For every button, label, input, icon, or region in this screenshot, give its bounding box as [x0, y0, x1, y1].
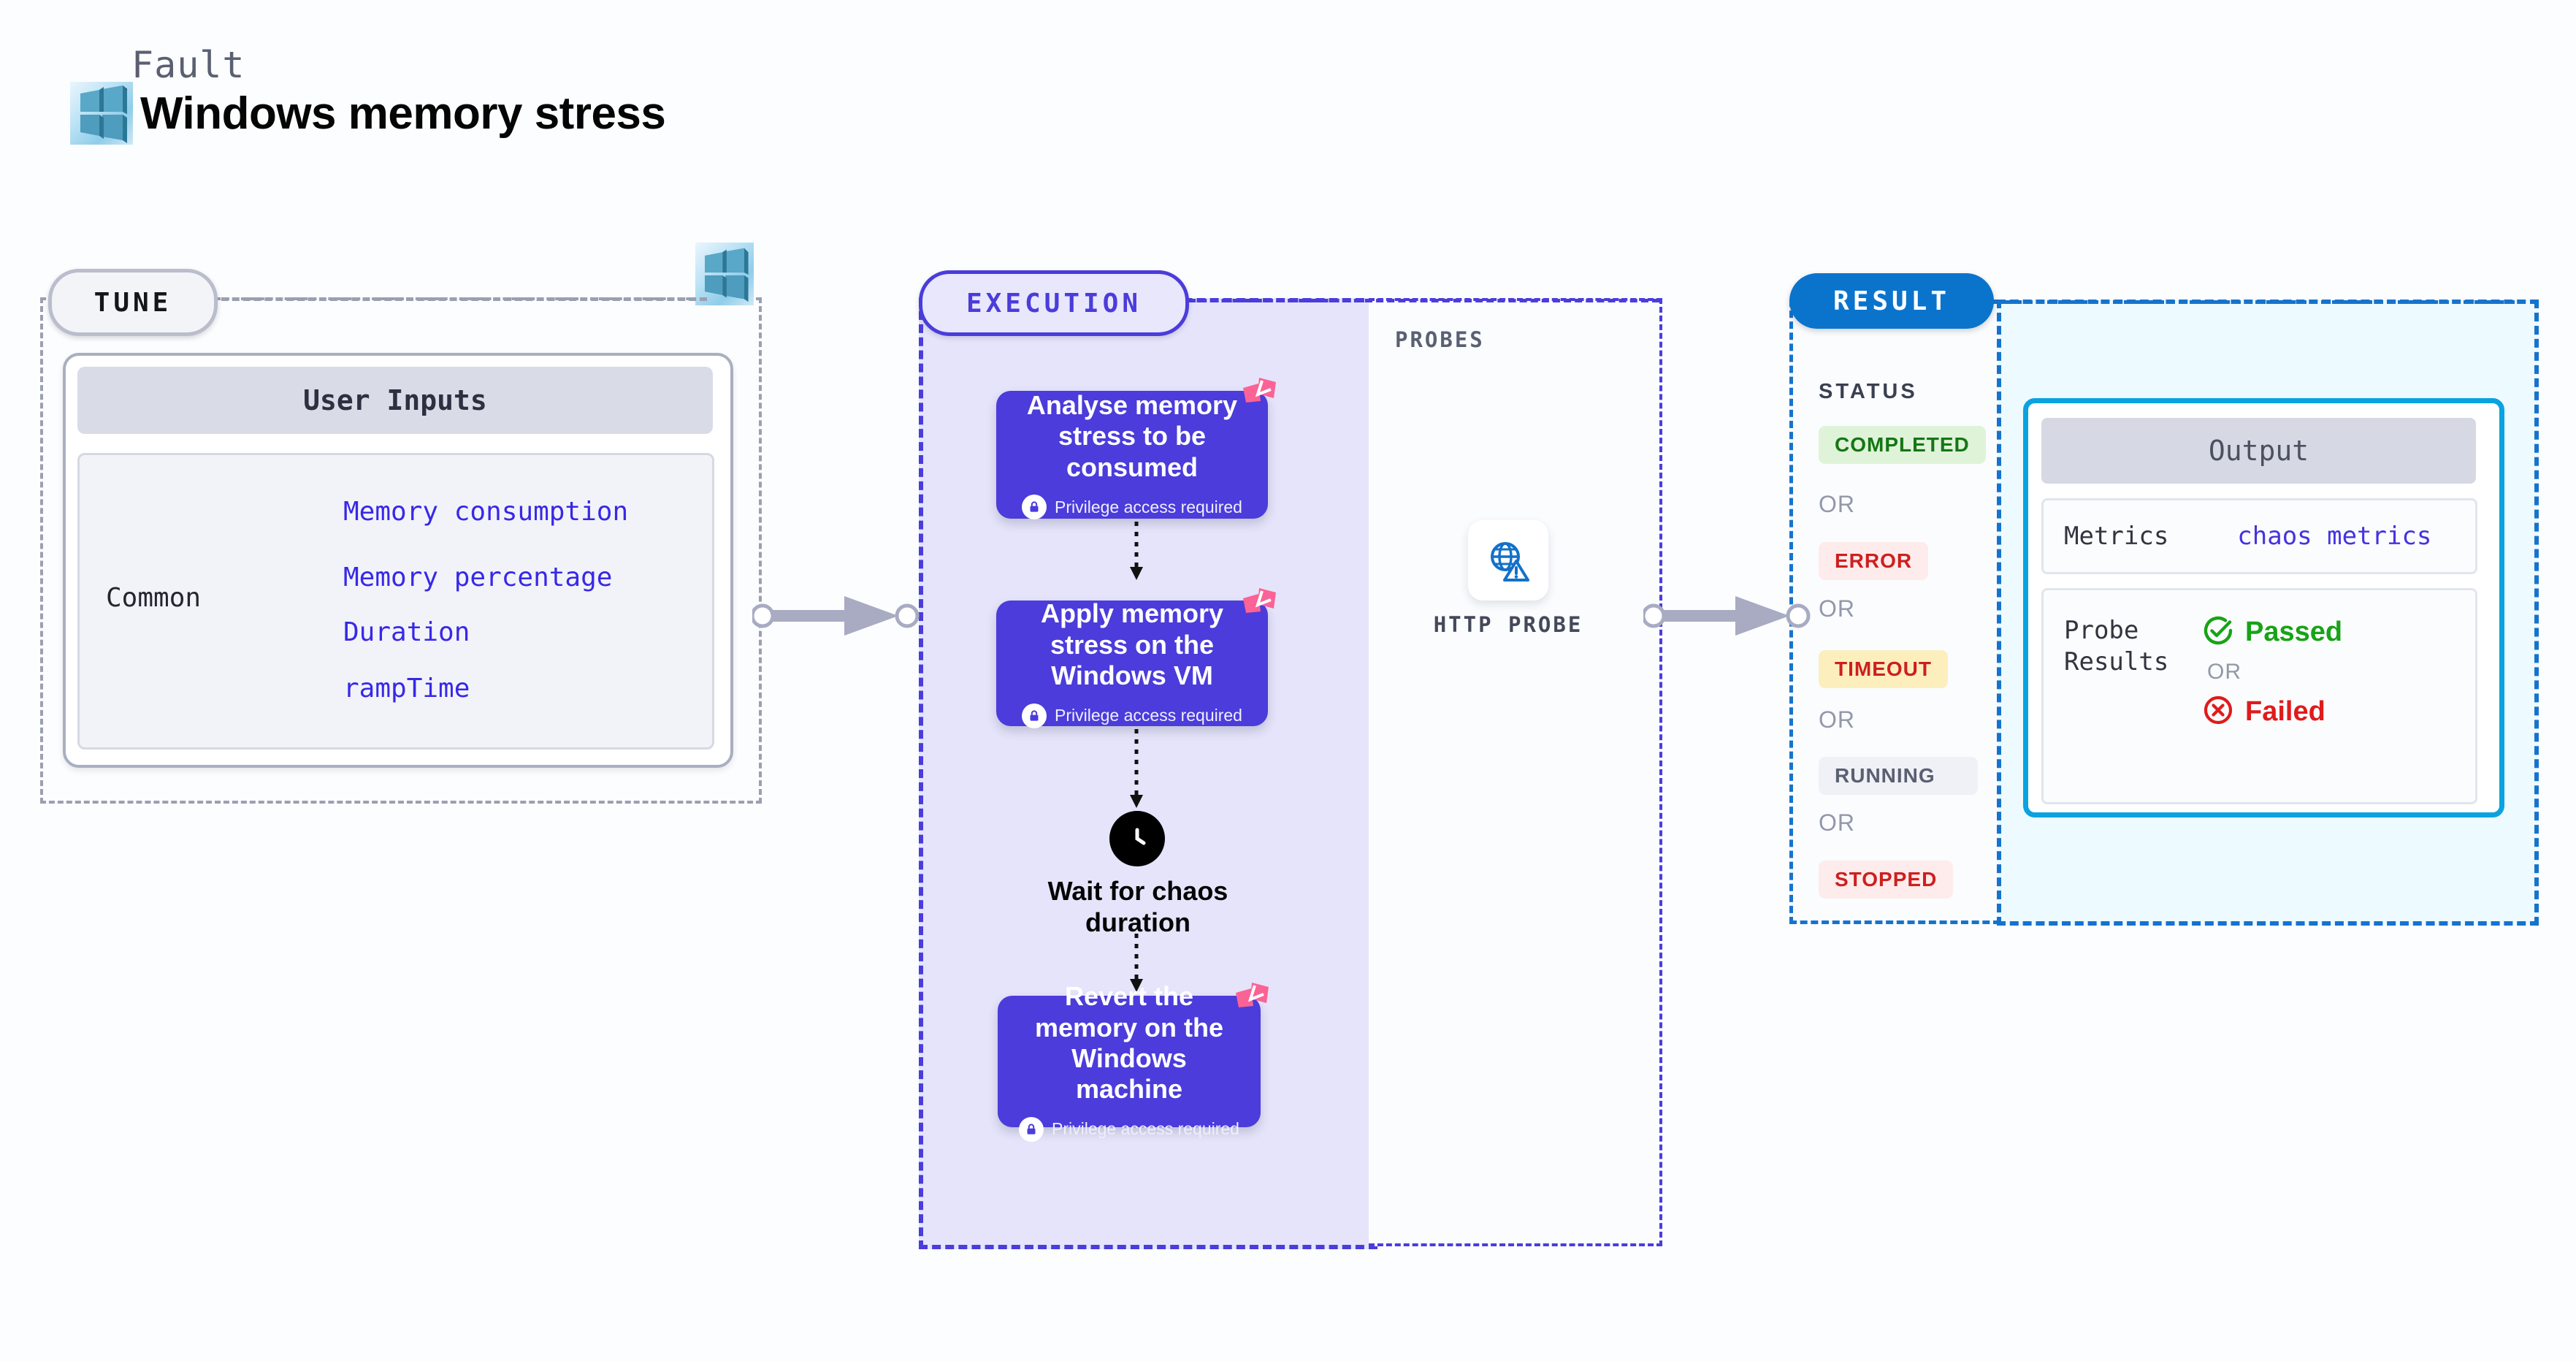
execution-step-3-title: Revert the memory on the Windows machine	[998, 981, 1261, 1105]
execution-to-result-connector	[1643, 592, 1811, 640]
clock-icon	[1109, 811, 1165, 866]
execution-step-1-title: Analyse memory stress to be consumed	[996, 390, 1268, 483]
probes-panel	[1369, 298, 1662, 1246]
fault-kicker: Fault	[131, 44, 665, 86]
x-circle-icon	[2203, 695, 2233, 729]
tune-badge-label: TUNE	[94, 288, 172, 318]
execution-step-2-privilege-text: Privilege access required	[1055, 706, 1242, 725]
tune-param-ramptime[interactable]: rampTime	[343, 674, 470, 704]
status-or-2: OR	[1819, 595, 1855, 622]
metrics-value[interactable]: chaos metrics	[2237, 522, 2431, 551]
status-badge-timeout: TIMEOUT	[1819, 650, 1948, 688]
execution-step-1[interactable]: Analyse memory stress to be consumed Pri…	[996, 391, 1268, 519]
execution-step-3-privilege-text: Privilege access required	[1052, 1119, 1239, 1139]
tune-param-memory-consumption[interactable]: Memory consumption	[343, 497, 628, 527]
probe-results-row: Probe Results Passed OR	[2041, 588, 2477, 804]
execution-step-1-privilege: Privilege access required	[1022, 495, 1242, 519]
execution-arrow-1	[1126, 522, 1147, 582]
result-badge-label: RESULT	[1833, 286, 1950, 316]
status-or-1: OR	[1819, 491, 1855, 518]
tune-badge-connector	[210, 297, 707, 301]
status-badge-error: ERROR	[1819, 542, 1928, 580]
status-or-3: OR	[1819, 706, 1855, 733]
lock-icon	[1019, 1117, 1044, 1142]
probe-caption: HTTP PROBE	[1410, 612, 1607, 637]
execution-step-2[interactable]: Apply memory stress on the Windows VM Pr…	[996, 601, 1268, 726]
output-header: Output	[2041, 418, 2476, 484]
execution-step-2-privilege: Privilege access required	[1022, 704, 1242, 728]
execution-badge[interactable]: EXECUTION	[919, 270, 1189, 336]
metrics-row: Metrics chaos metrics	[2041, 498, 2477, 574]
execution-step-2-title: Apply memory stress on the Windows VM	[996, 598, 1268, 691]
status-badge-running-label: RUNNING	[1835, 764, 1935, 788]
windows-logo-icon	[70, 82, 133, 145]
probe-results-label: Probe Results	[2064, 615, 2194, 827]
execution-step-3-privilege: Privilege access required	[1019, 1117, 1239, 1142]
status-badge-error-label: ERROR	[1835, 549, 1912, 573]
status-label: STATUS	[1819, 380, 1918, 404]
tune-param-memory-percentage[interactable]: Memory percentage	[343, 563, 612, 592]
tune-param-duration[interactable]: Duration	[343, 617, 470, 647]
execution-arrow-2	[1126, 729, 1147, 809]
probe-result-passed: Passed	[2203, 615, 2342, 649]
title-row: Windows memory stress	[70, 82, 665, 145]
output-header-label: Output	[2209, 435, 2309, 467]
probe-result-failed-label: Failed	[2245, 696, 2325, 728]
execution-step-1-privilege-text: Privilege access required	[1055, 497, 1242, 517]
lock-icon	[1022, 495, 1047, 519]
wait-for-chaos-duration-label: Wait for chaos duration	[1008, 875, 1268, 938]
common-group-label: Common	[106, 583, 201, 613]
litmus-chaos-icon	[1242, 587, 1278, 625]
lock-icon	[1022, 704, 1047, 728]
user-inputs-header-label: User Inputs	[303, 384, 487, 416]
result-badge-connector	[1992, 300, 2526, 304]
probes-label: PROBES	[1395, 327, 1485, 352]
status-badge-running: RUNNING	[1819, 757, 1978, 795]
execution-badge-connector	[1177, 299, 1659, 302]
page-title: Windows memory stress	[140, 88, 665, 140]
execution-badge-label: EXECUTION	[966, 289, 1142, 319]
probe-result-or: OR	[2207, 660, 2342, 685]
metrics-label: Metrics	[2064, 522, 2168, 551]
status-badge-stopped: STOPPED	[1819, 861, 1953, 899]
check-circle-icon	[2203, 615, 2233, 649]
probe-result-passed-label: Passed	[2245, 617, 2342, 648]
litmus-chaos-icon	[1234, 981, 1271, 1019]
probe-result-failed: Failed	[2203, 695, 2342, 729]
status-badge-stopped-label: STOPPED	[1835, 868, 1937, 891]
tune-badge[interactable]: TUNE	[48, 269, 218, 336]
globe-warning-icon[interactable]	[1468, 520, 1548, 601]
status-or-4: OR	[1819, 809, 1855, 836]
tune-to-execution-connector	[752, 592, 920, 640]
litmus-chaos-icon	[1242, 376, 1278, 414]
tune-windows-logo-icon	[695, 243, 754, 305]
page-header: Fault Windows memory stress	[70, 44, 665, 145]
status-badge-timeout-label: TIMEOUT	[1835, 657, 1932, 681]
status-badge-completed-label: COMPLETED	[1835, 433, 1970, 457]
execution-step-3[interactable]: Revert the memory on the Windows machine…	[998, 996, 1261, 1127]
status-badge-completed: COMPLETED	[1819, 426, 1986, 464]
user-inputs-header: User Inputs	[77, 367, 713, 434]
result-badge[interactable]: RESULT	[1789, 273, 1994, 329]
